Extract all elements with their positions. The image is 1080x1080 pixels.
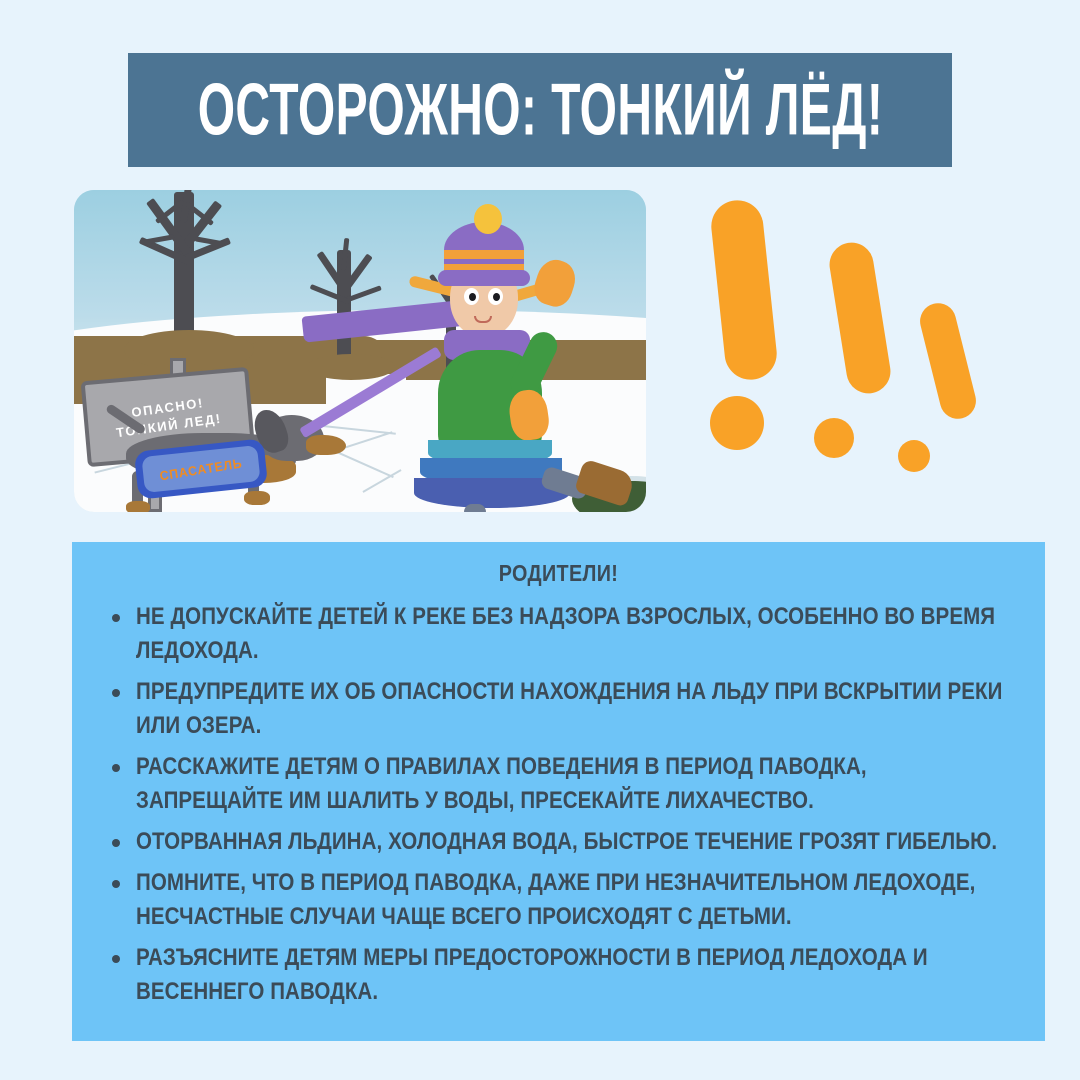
rule-text: ОТОРВАННАЯ ЛЬДИНА, ХОЛОДНАЯ ВОДА, БЫСТРО… [136, 825, 1019, 859]
list-item: РАЗЪЯСНИТЕ ДЕТЯМ МЕРЫ ПРЕДОСТОРОЖНОСТИ В… [98, 941, 1019, 1009]
list-item: ПОМНИТЕ, ЧТО В ПЕРИОД ПАВОДКА, ДАЖЕ ПРИ … [98, 866, 1019, 934]
hat-stripe [444, 250, 524, 259]
bare-tree [114, 190, 274, 352]
rule-text: ПРЕДУПРЕДИТЕ ИХ ОБ ОПАСНОСТИ НАХОЖДЕНИЯ … [136, 675, 1019, 743]
list-item: ОТОРВАННАЯ ЛЬДИНА, ХОЛОДНАЯ ВОДА, БЫСТРО… [98, 825, 1019, 859]
safety-poster: ОСТОРОЖНО: ТОНКИЙ ЛЁД! [0, 0, 1080, 1080]
bullet-icon [112, 689, 120, 697]
boot-kicking [574, 458, 636, 507]
winter-ice-illustration: ОПАСНО! ТОНКИЙ ЛЕД! СПАСАТЕЛЬ [74, 190, 646, 512]
list-item: НЕ ДОПУСКАЙТЕ ДЕТЕЙ К РЕКЕ БЕЗ НАДЗОРА В… [98, 600, 1019, 668]
dog-snout [306, 435, 346, 455]
list-item: РАССКАЖИТЕ ДЕТЯМ О ПРАВИЛАХ ПОВЕДЕНИЯ В … [98, 750, 1019, 818]
dog-paw [126, 501, 150, 512]
girl-pupil-left [469, 293, 476, 301]
rescue-dachshund: СПАСАТЕЛЬ [96, 405, 326, 512]
bullet-icon [112, 764, 120, 772]
legging-standing [464, 504, 486, 512]
mitten-raised [530, 255, 580, 310]
exclamation-marks-group [690, 190, 1020, 490]
dog-paw [244, 491, 270, 505]
rule-text: РАЗЪЯСНИТЕ ДЕТЯМ МЕРЫ ПРЕДОСТОРОЖНОСТИ В… [136, 941, 1019, 1009]
girl-pupil-right [493, 293, 500, 301]
parents-advice-panel: РОДИТЕЛИ! НЕ ДОПУСКАЙТЕ ДЕТЕЙ К РЕКЕ БЕЗ… [72, 542, 1045, 1041]
page-title: ОСТОРОЖНО: ТОНКИЙ ЛЁД! [197, 73, 883, 146]
bullet-icon [112, 614, 120, 622]
girl-slipping-on-ice [414, 204, 644, 512]
title-banner: ОСТОРОЖНО: ТОНКИЙ ЛЁД! [128, 53, 952, 167]
list-item: ПРЕДУПРЕДИТЕ ИХ ОБ ОПАСНОСТИ НАХОЖДЕНИЯ … [98, 675, 1019, 743]
rule-text: ПОМНИТЕ, ЧТО В ПЕРИОД ПАВОДКА, ДАЖЕ ПРИ … [136, 866, 1019, 934]
bullet-icon [112, 839, 120, 847]
bullet-icon [112, 880, 120, 888]
hat-pompom [474, 204, 502, 234]
rule-text: РАССКАЖИТЕ ДЕТЯМ О ПРАВИЛАХ ПОВЕДЕНИЯ В … [136, 750, 1019, 818]
dog-tail [105, 403, 147, 435]
safety-rules-list: НЕ ДОПУСКАЙТЕ ДЕТЕЙ К РЕКЕ БЕЗ НАДЗОРА В… [98, 600, 1019, 1010]
hat-brim [438, 270, 530, 286]
parents-heading: РОДИТЕЛИ! [162, 560, 954, 588]
rule-text: НЕ ДОПУСКАЙТЕ ДЕТЕЙ К РЕКЕ БЕЗ НАДЗОРА В… [136, 600, 1019, 668]
bullet-icon [112, 955, 120, 963]
